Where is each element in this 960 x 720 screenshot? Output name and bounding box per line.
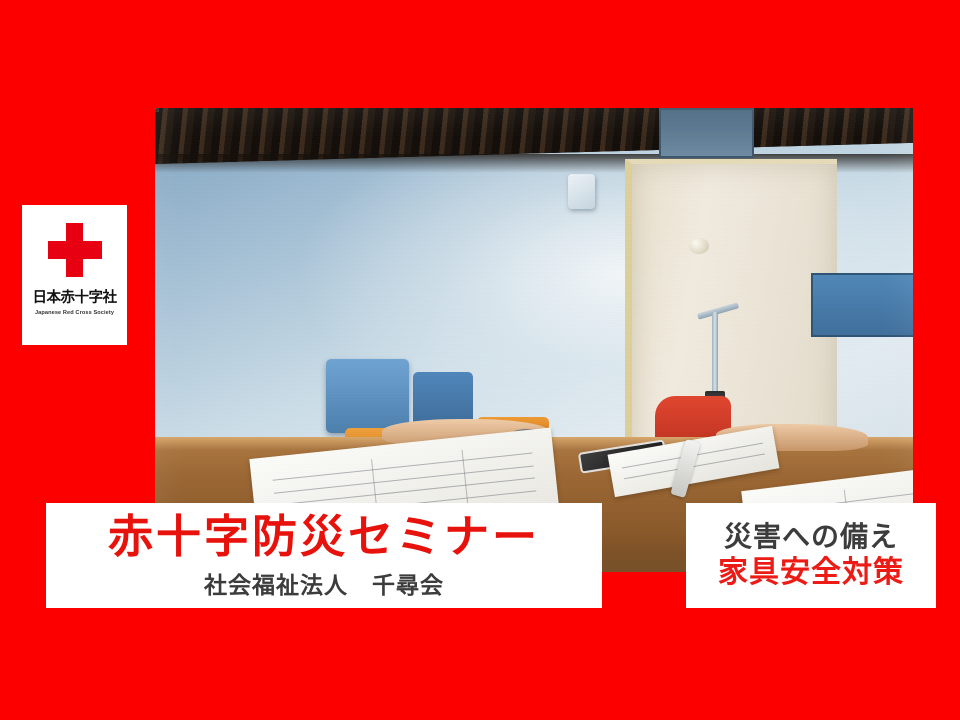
title-banner: 赤十字防災セミナー 社会福祉法人 千尋会 bbox=[46, 503, 602, 608]
photo-wall-plate bbox=[659, 108, 754, 158]
page-title: 赤十字防災セミナー bbox=[108, 513, 540, 560]
photo-door-knob bbox=[689, 238, 709, 254]
photo-wall-sensor bbox=[568, 174, 595, 209]
badge-line-primary: 災害への備え bbox=[724, 522, 898, 553]
photo-chair-blue-back bbox=[326, 359, 409, 433]
photo-p6-glasses bbox=[155, 108, 159, 112]
topic-badge: 災害への備え 家具安全対策 bbox=[686, 503, 936, 608]
japanese-red-cross-logo: 日本赤十字社 Japanese Red Cross Society bbox=[22, 205, 127, 345]
red-cross-icon bbox=[48, 223, 102, 277]
photo-notice-board bbox=[811, 273, 913, 337]
logo-name-english: Japanese Red Cross Society bbox=[35, 310, 114, 316]
presentation-slide: 日本赤十字社 Japanese Red Cross Society 赤十字防災セ… bbox=[0, 0, 960, 720]
organization-name: 社会福祉法人 千尋会 bbox=[204, 566, 444, 600]
logo-name-japanese: 日本赤十字社 bbox=[33, 291, 117, 306]
badge-line-secondary: 家具安全対策 bbox=[718, 556, 904, 589]
